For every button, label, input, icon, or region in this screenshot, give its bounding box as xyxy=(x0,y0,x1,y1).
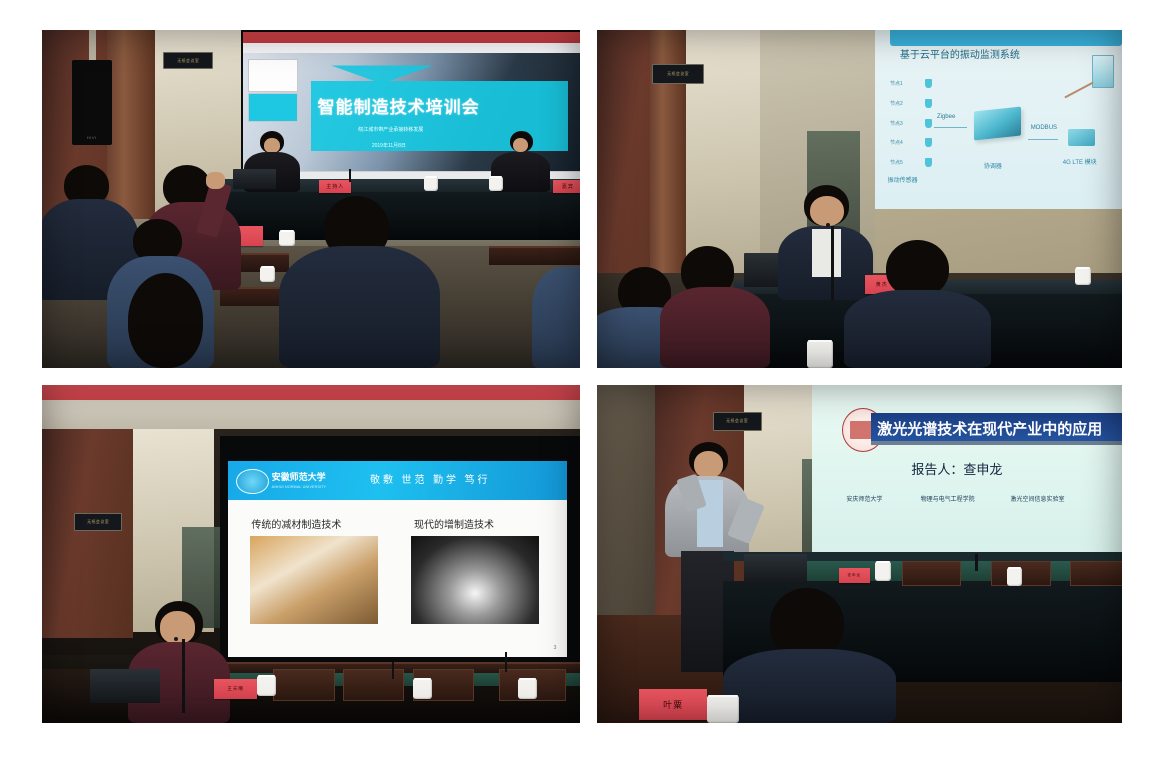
chair-1 xyxy=(902,561,962,587)
mobile-device-icon xyxy=(1092,55,1114,87)
table-mic-1 xyxy=(975,554,978,571)
audience-body-6 xyxy=(532,267,580,368)
presenter-mic-stand xyxy=(831,226,834,300)
attendee-body xyxy=(723,649,896,723)
node-label-5: 节点5 xyxy=(890,159,903,166)
tea-cup-3 xyxy=(518,679,537,699)
room-plaque: 无纸会议室 xyxy=(713,412,762,431)
namecard-table: 查申龙 xyxy=(839,568,871,583)
namecard-speaker: 王天曙 xyxy=(214,679,257,699)
affiliation-3-text: 激光空间信息实验室 xyxy=(1010,494,1064,503)
projection-screen: 激光光谱技术在现代产业中的应用 报告人：查申龙 安庆师范大学 物理与电气工程学院… xyxy=(812,385,1122,561)
sensor-icon-2 xyxy=(925,99,932,108)
node-label-1: 节点1 xyxy=(890,80,903,87)
protocol-zigbee-label: Zigbee xyxy=(937,114,955,120)
university-logo-icon xyxy=(236,469,269,495)
namecard-guest: 嘉宾 xyxy=(553,180,580,192)
protocol-modbus-label: MODBUS xyxy=(1031,125,1057,131)
slide-subtitle-text: 皖江城市带产业承接转移发展 xyxy=(358,126,423,133)
namecard-speaker-label: 王天曙 xyxy=(227,686,244,692)
audience-desk-3 xyxy=(489,246,580,265)
paper-cup-1 xyxy=(707,696,739,723)
paper-cup-1 xyxy=(260,267,275,282)
sensor-icon-3 xyxy=(925,119,932,128)
room-plaque: 无纸会议室 xyxy=(163,52,213,69)
presenter-mic-head xyxy=(826,223,830,227)
tea-cup-2 xyxy=(413,679,432,699)
tea-cup-1 xyxy=(257,676,276,696)
speaker-face xyxy=(160,611,195,643)
slide-title-text: 激光光谱技术在现代产业中的应用 xyxy=(877,418,1102,439)
tea-cup-1 xyxy=(875,562,891,581)
table-mic-2 xyxy=(505,652,508,672)
university-motto-text: 敬敷 世范 勤学 笃行 xyxy=(370,471,491,486)
sensor-group-label: 振动传感器 xyxy=(888,175,918,184)
speaker-laptop xyxy=(90,669,160,703)
table-mic xyxy=(349,169,352,183)
room-plaque: 无纸会议室 xyxy=(652,64,704,85)
speaker-mic-stand xyxy=(182,639,185,713)
university-name-text: 安徽师范大学 xyxy=(272,470,326,483)
audience-body-2 xyxy=(660,287,770,368)
sensor-icon-5 xyxy=(925,158,932,167)
left-caption-text: 传统的减材制造技术 xyxy=(251,516,341,531)
node-label-3: 节点3 xyxy=(890,120,903,127)
right-caption-text: 现代的增制造技术 xyxy=(414,516,494,531)
namecard-attendee-label: 叶粟 xyxy=(663,698,683,711)
tea-cup-2 xyxy=(1007,568,1023,587)
head-table-skirt xyxy=(220,192,580,239)
namecard-guest-label: 黄杰 xyxy=(876,281,888,288)
audience-body-3 xyxy=(844,290,991,368)
slide-speaker-text: 报告人：查申龙 xyxy=(911,459,1002,478)
table-mic-1 xyxy=(392,662,395,679)
projection-screen: 安徽师范大学 ANHUI NORMAL UNIVERSITY 敬敷 世范 勤学 … xyxy=(228,461,567,657)
table-laptop xyxy=(744,554,807,584)
university-name-en-text: ANHUI NORMAL UNIVERSITY xyxy=(272,485,327,489)
slide-comparison: 安徽师范大学 ANHUI NORMAL UNIVERSITY 敬敷 世范 勤学 … xyxy=(228,461,567,657)
audience-body-5 xyxy=(279,246,440,368)
presenter-face xyxy=(694,451,723,478)
chair-1 xyxy=(273,669,334,701)
room-plaque-label: 无纸会议室 xyxy=(667,72,689,76)
host-laptop xyxy=(233,169,276,189)
tea-cup-3 xyxy=(279,231,295,246)
room-plaque-label: 无纸会议室 xyxy=(177,59,199,63)
additive-manufacturing-image xyxy=(411,536,540,624)
subtractive-manufacturing-image xyxy=(250,536,379,624)
affiliation-2-text: 物理与电气工程学院 xyxy=(921,494,975,503)
photo-top-right[interactable]: 无纸会议室 基于云平台的振动监测系统 节点1 节点2 节点3 节点4 节点5 振… xyxy=(597,30,1122,368)
slide-diagram: 基于云平台的振动监测系统 节点1 节点2 节点3 节点4 节点5 振动传感器 Z… xyxy=(875,30,1122,209)
room-plaque-label: 无纸会议室 xyxy=(87,520,109,524)
tea-cup-1 xyxy=(424,177,438,191)
loudspeaker: HIVI xyxy=(72,60,112,145)
affiliation-1-text: 安庆师范大学 xyxy=(846,494,882,503)
slide-title-text: 智能制造技术培训会 xyxy=(318,93,562,118)
slide-heading-text: 基于云平台的振动监测系统 xyxy=(900,46,1020,61)
namecard-attendee: 叶粟 xyxy=(639,689,707,719)
loudspeaker-brand: HIVI xyxy=(72,135,112,140)
slide-page-number: 3 xyxy=(554,645,557,651)
speaker-mic-head xyxy=(174,637,178,641)
sensor-icon-1 xyxy=(925,79,932,88)
audience-head-3 xyxy=(886,240,949,297)
audience-head-4 xyxy=(128,273,203,368)
namecard-host-label: 主持人 xyxy=(326,183,344,190)
audience-raised-hand xyxy=(206,172,225,189)
chair-2 xyxy=(343,669,404,701)
namecard-guest-label: 嘉宾 xyxy=(562,183,574,190)
node-label-2: 节点2 xyxy=(890,100,903,107)
person-host-face xyxy=(264,138,280,153)
photo-bottom-right[interactable]: 无纸会议室 激光光谱技术在现代产业中的应用 报告人：查申龙 安庆师范大学 物理与… xyxy=(597,385,1122,723)
photo-collage: 无纸会议室 HIVI 智能制造技术培训会 皖江城市带产业承接转移发展 2019年… xyxy=(0,0,1164,760)
coordinator-icon xyxy=(974,106,1021,140)
namecard-table-label: 查申龙 xyxy=(848,573,862,578)
lte-module-label: 4G LTE 模块 xyxy=(1063,157,1097,166)
presenter-face xyxy=(810,196,844,226)
namecard-host: 主持人 xyxy=(319,180,351,192)
lte-module-icon xyxy=(1068,129,1095,147)
room-plaque-label: 无纸会议室 xyxy=(726,419,748,423)
presenter-shirt xyxy=(812,229,841,276)
photo-top-left[interactable]: 无纸会议室 HIVI 智能制造技术培训会 皖江城市带产业承接转移发展 2019年… xyxy=(42,30,580,368)
paper-cup-1 xyxy=(807,341,833,368)
tea-cup-1 xyxy=(1075,268,1091,285)
tea-cup-2 xyxy=(489,177,503,191)
coordinator-label: 协调器 xyxy=(984,161,1002,170)
node-label-4: 节点4 xyxy=(890,139,903,146)
red-banner xyxy=(42,385,580,400)
photo-bottom-left[interactable]: 无纸会议室 安徽师范大学 ANHUI NORMAL UNIVERSITY 敬敷 … xyxy=(42,385,580,723)
projection-screen: 基于云平台的振动监测系统 节点1 节点2 节点3 节点4 节点5 振动传感器 Z… xyxy=(875,30,1122,209)
room-plaque: 无纸会议室 xyxy=(74,513,122,530)
slide-title: 激光光谱技术在现代产业中的应用 报告人：查申龙 安庆师范大学 物理与电气工程学院… xyxy=(812,385,1122,561)
chair-3 xyxy=(1070,561,1123,587)
slide-date-text: 2019年11月8日 xyxy=(372,142,406,149)
sensor-icon-4 xyxy=(925,138,932,147)
